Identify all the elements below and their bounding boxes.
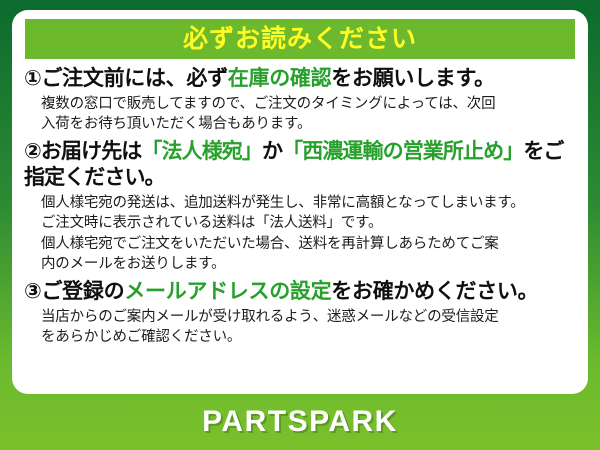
footer-logo-bar: PARTSPARK <box>0 394 600 450</box>
notice-item-3-heading-part-3: をお確かめください。 <box>331 280 538 303</box>
notice-item-3-heading: ③ご登録のメールアドレスの設定をお確かめください。 <box>24 279 578 305</box>
inner-white-panel: 必ずお読みください ①ご注文前には、必ず在庫の確認をお願いします。 複数の窓口で… <box>12 10 588 394</box>
partspark-logo: PARTSPARK <box>202 405 398 439</box>
notice-item-3-body: 当店からのご案内メールが受け取れるよう、迷惑メールなどの受信設定 をあらかじめご… <box>24 307 578 348</box>
notice-item-2-heading-part-3: か <box>262 140 282 163</box>
notice-item-2-heading-part-1: お届け先は <box>41 140 142 163</box>
notice-item-3-marker: ③ <box>24 280 41 303</box>
notice-item-2-marker: ② <box>24 140 41 163</box>
notice-card: 必ずお読みください ①ご注文前には、必ず在庫の確認をお願いします。 複数の窓口で… <box>0 0 600 450</box>
notice-item-1: ①ご注文前には、必ず在庫の確認をお願いします。 複数の窓口で販売してますので、ご… <box>24 66 578 135</box>
notice-item-3-heading-part-1: ご登録の <box>41 280 124 303</box>
notice-item-3: ③ご登録のメールアドレスの設定をお確かめください。 当店からのご案内メールが受け… <box>24 279 578 348</box>
notice-item-2-body-line-2: ご注文時に表示されている送料は「法人送料」です。 <box>41 213 578 234</box>
notice-item-1-body-line-2: 入荷をお待ち頂いただく場合もあります。 <box>41 114 578 135</box>
notice-item-2-body-line-1: 個人様宅宛の発送は、追加送料が発生し、非常に高額となってしまいます。 <box>41 193 578 214</box>
title-banner: 必ずお読みください <box>25 19 575 59</box>
notice-item-1-heading: ①ご注文前には、必ず在庫の確認をお願いします。 <box>24 66 578 92</box>
notice-item-2-heading-highlight-2: 「西濃運輸の営業所止め」 <box>282 140 523 163</box>
notice-item-1-heading-highlight: 在庫の確認 <box>228 67 332 90</box>
notice-item-1-heading-part-3: をお願いします。 <box>331 67 495 90</box>
notice-item-2-body-line-4: 内のメールをお送りします。 <box>41 254 578 275</box>
notice-item-1-body-line-1: 複数の窓口で販売してますので、ご注文のタイミングによっては、次回 <box>41 94 578 115</box>
notice-item-2-body-line-3: 個人様宅宛でご注文をいただいた場合、送料を再計算しあらためてご案 <box>41 234 578 255</box>
notice-item-3-heading-highlight: メールアドレスの設定 <box>124 280 331 303</box>
notice-item-3-body-line-2: をあらかじめご確認ください。 <box>41 327 578 348</box>
notice-item-2-heading-highlight-1: 「法人様宛」 <box>141 140 262 163</box>
notice-item-2-heading: ②お届け先は「法人様宛」か「西濃運輸の営業所止め」をご指定ください。 <box>24 139 578 191</box>
notice-item-1-body: 複数の窓口で販売してますので、ご注文のタイミングによっては、次回 入荷をお待ち頂… <box>24 94 578 135</box>
notice-item-3-body-line-1: 当店からのご案内メールが受け取れるよう、迷惑メールなどの受信設定 <box>41 307 578 328</box>
notice-item-1-marker: ① <box>24 67 41 90</box>
notice-item-2: ②お届け先は「法人様宛」か「西濃運輸の営業所止め」をご指定ください。 個人様宅宛… <box>24 139 578 275</box>
notice-item-1-heading-part-1: ご注文前には、必ず <box>41 67 227 90</box>
notice-title: 必ずお読みください <box>183 27 417 52</box>
notice-items-list: ①ご注文前には、必ず在庫の確認をお願いします。 複数の窓口で販売してますので、ご… <box>12 66 588 352</box>
notice-item-2-body: 個人様宅宛の発送は、追加送料が発生し、非常に高額となってしまいます。 ご注文時に… <box>24 193 578 275</box>
